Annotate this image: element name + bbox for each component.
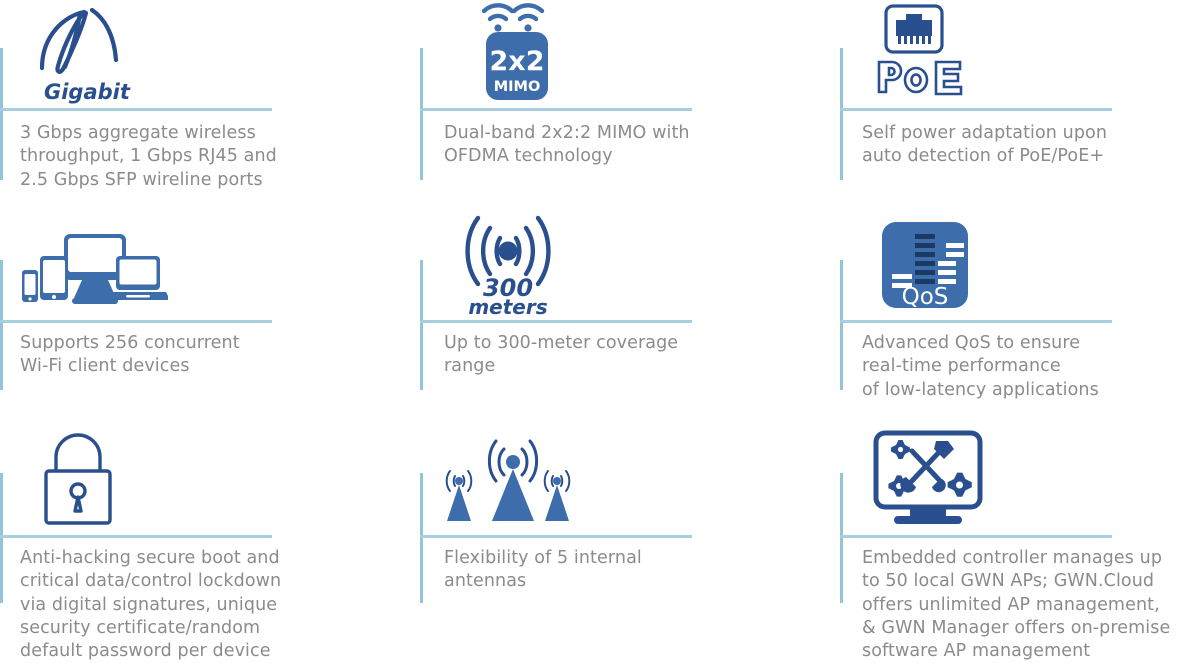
- accent-vertical-rule: [840, 260, 843, 390]
- accent-horizontal-rule: [420, 320, 692, 323]
- feature-description: Up to 300-meter coverage range: [444, 332, 678, 379]
- feature-cell-qos: QoS Advanced QoS to ensure real-time per…: [840, 210, 1200, 425]
- accent-horizontal-rule: [0, 535, 272, 538]
- feature-grid: Gigabit 3 Gbps aggregate wireless throug…: [0, 0, 1200, 660]
- mimo-secondary-label: MIMO: [494, 79, 541, 95]
- qos-label: QoS: [902, 284, 949, 310]
- feature-description: Supports 256 concurrent Wi-Fi client dev…: [20, 332, 240, 379]
- feature-description: Anti-hacking secure boot and critical da…: [20, 547, 281, 663]
- accent-vertical-rule: [0, 473, 3, 603]
- antenna-towers-icon: [438, 429, 588, 531]
- coverage-range-signal-icon: 300 meters: [438, 212, 578, 316]
- feature-description: 3 Gbps aggregate wireless throughput, 1 …: [20, 122, 277, 192]
- mimo-2x2-badge-icon: 2x2 MIMO: [438, 0, 568, 104]
- feature-cell-gigabit: Gigabit 3 Gbps aggregate wireless throug…: [0, 0, 420, 210]
- accent-vertical-rule: [420, 48, 423, 180]
- feature-description: Embedded controller manages up to 50 loc…: [862, 547, 1170, 663]
- feature-description: Advanced QoS to ensure real-time perform…: [862, 332, 1099, 402]
- mimo-primary-label: 2x2: [490, 46, 545, 77]
- accent-horizontal-rule: [0, 108, 272, 111]
- feature-cell-antennas: Flexibility of 5 internal antennas: [420, 425, 840, 660]
- accent-horizontal-rule: [840, 535, 1112, 538]
- accent-vertical-rule: [420, 260, 423, 390]
- accent-vertical-rule: [0, 260, 3, 390]
- padlock-icon: [18, 429, 148, 531]
- feature-description: Self power adaptation upon auto detectio…: [862, 122, 1107, 169]
- monitor-tools-gears-icon: [858, 429, 998, 531]
- range-secondary-label: meters: [468, 295, 547, 316]
- feature-description: Dual-band 2x2:2 MIMO with OFDMA technolo…: [444, 122, 690, 169]
- multi-device-icon: [18, 212, 168, 316]
- accent-horizontal-rule: [840, 320, 1112, 323]
- qos-equalizer-icon: QoS: [858, 212, 988, 316]
- gigabit-gauge-icon: Gigabit: [18, 0, 188, 104]
- poe-rj45-icon: [858, 0, 988, 104]
- feature-cell-mimo: 2x2 MIMO Dual-band 2x2:2 MIMO with OFDMA…: [420, 0, 840, 210]
- feature-cell-clients: Supports 256 concurrent Wi-Fi client dev…: [0, 210, 420, 425]
- feature-cell-security: Anti-hacking secure boot and critical da…: [0, 425, 420, 660]
- accent-horizontal-rule: [0, 320, 272, 323]
- accent-vertical-rule: [840, 473, 843, 603]
- accent-vertical-rule: [840, 48, 843, 180]
- feature-description: Flexibility of 5 internal antennas: [444, 547, 642, 594]
- accent-vertical-rule: [420, 473, 423, 603]
- accent-horizontal-rule: [420, 108, 692, 111]
- accent-horizontal-rule: [840, 108, 1112, 111]
- feature-cell-poe: Self power adaptation upon auto detectio…: [840, 0, 1200, 210]
- feature-cell-range: 300 meters Up to 300-meter coverage rang…: [420, 210, 840, 425]
- accent-horizontal-rule: [420, 535, 692, 538]
- accent-vertical-rule: [0, 48, 3, 180]
- gigabit-wordmark: Gigabit: [44, 80, 131, 104]
- feature-cell-controller: Embedded controller manages up to 50 loc…: [840, 425, 1200, 660]
